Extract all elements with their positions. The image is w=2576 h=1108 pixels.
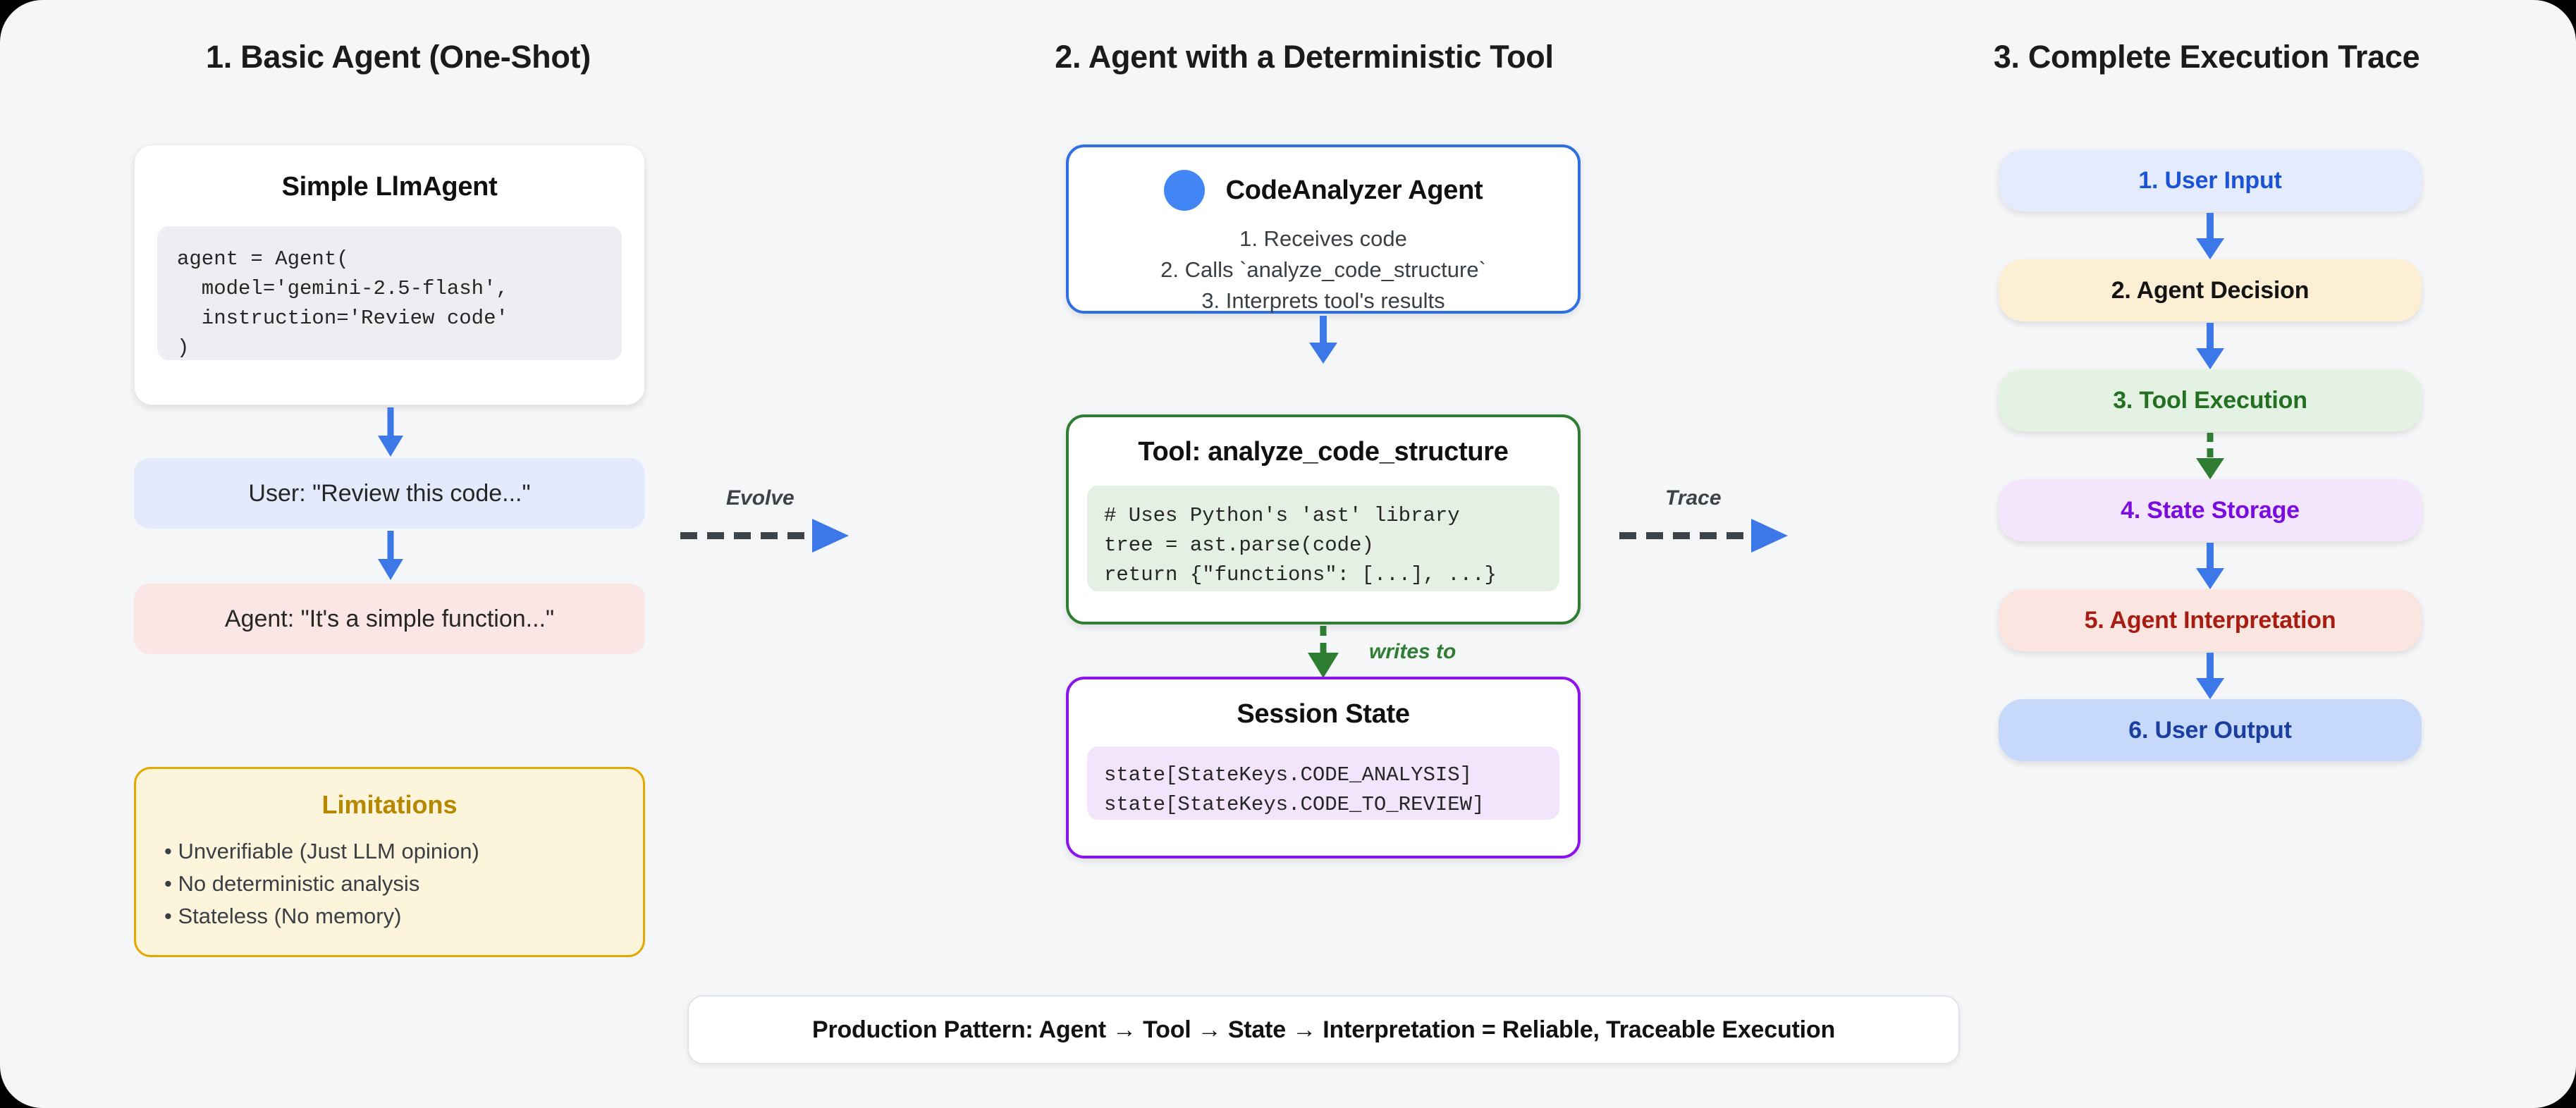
tool-code: # Uses Python's 'ast' library tree = ast… [1087, 486, 1559, 591]
limitations-box: Limitations • Unverifiable (Just LLM opi… [134, 767, 645, 957]
arrow-step1-to-step2 [2189, 213, 2231, 261]
trace-step-2: 2. Agent Decision [1999, 259, 2422, 321]
tool-title: Tool: analyze_code_structure [1069, 437, 1578, 467]
arrow-evolve [677, 515, 874, 557]
session-state-title: Session State [1069, 699, 1578, 730]
trace-step-1: 1. User Input [1999, 149, 2422, 211]
production-pattern-text: Production Pattern: Agent → Tool → State… [812, 1016, 1835, 1044]
trace-step-6: 6. User Output [1999, 699, 2422, 761]
limitations-title: Limitations [136, 790, 643, 820]
agent-reply-box: Agent: "It's a simple function..." [134, 584, 645, 654]
trace-step-label: 5. Agent Interpretation [2085, 607, 2336, 634]
trace-label: Trace [1665, 486, 1722, 510]
column-3-heading: 3. Complete Execution Trace [1925, 39, 2489, 75]
trace-step-3: 3. Tool Execution [1999, 369, 2422, 431]
simple-agent-title: Simple LlmAgent [135, 172, 644, 202]
arrow-step3-to-step4 [2189, 433, 2231, 481]
user-message-box: User: "Review this code..." [134, 458, 645, 529]
trace-step-5: 5. Agent Interpretation [1999, 589, 2422, 651]
user-message-text: User: "Review this code..." [248, 480, 530, 507]
trace-step-4: 4. State Storage [1999, 479, 2422, 541]
column-2-heading: 2. Agent with a Deterministic Tool [973, 39, 1636, 75]
codeanalyzer-agent-card: CodeAnalyzer Agent 1. Receives code 2. C… [1066, 144, 1581, 314]
trace-step-label: 4. State Storage [2121, 497, 2300, 524]
arrow-step5-to-step6 [2189, 653, 2231, 701]
tool-card: Tool: analyze_code_structure # Uses Pyth… [1066, 414, 1581, 624]
arrow-user-to-agent-reply [369, 531, 412, 581]
trace-step-label: 1. User Input [2138, 167, 2281, 195]
production-pattern-banner: Production Pattern: Agent → Tool → State… [687, 995, 1960, 1064]
arrow-tool-to-state [1302, 626, 1344, 681]
column-1-heading: 1. Basic Agent (One-Shot) [85, 39, 712, 75]
limitation-item: • No deterministic analysis [164, 868, 643, 900]
trace-step-label: 6. User Output [2128, 717, 2291, 744]
diagram-canvas: 1. Basic Agent (One-Shot) 2. Agent with … [0, 0, 2576, 1108]
arrow-step4-to-step5 [2189, 543, 2231, 591]
agent-step: 1. Receives code [1069, 223, 1578, 254]
writes-to-label: writes to [1369, 640, 1456, 664]
trace-step-label: 2. Agent Decision [2111, 277, 2310, 304]
arrow-agent-to-tool [1302, 316, 1344, 365]
arrow-step2-to-step3 [2189, 323, 2231, 371]
evolve-label: Evolve [726, 486, 795, 510]
session-state-card: Session State state[StateKeys.CODE_ANALY… [1066, 677, 1581, 858]
codeanalyzer-title: CodeAnalyzer Agent [1226, 176, 1483, 206]
limitation-item: • Unverifiable (Just LLM opinion) [164, 835, 643, 868]
limitation-item: • Stateless (No memory) [164, 900, 643, 932]
agent-step: 3. Interprets tool's results [1069, 285, 1578, 316]
agent-step: 2. Calls `analyze_code_structure` [1069, 254, 1578, 285]
simple-llm-agent-card: Simple LlmAgent agent = Agent( model='ge… [134, 144, 645, 405]
session-state-code: state[StateKeys.CODE_ANALYSIS] state[Sta… [1087, 746, 1559, 820]
trace-step-label: 3. Tool Execution [2113, 387, 2307, 414]
simple-agent-code: agent = Agent( model='gemini-2.5-flash',… [157, 226, 622, 360]
arrow-trace [1616, 515, 1813, 557]
agent-status-dot [1164, 170, 1205, 211]
arrow-agent-to-user [369, 407, 412, 458]
agent-reply-text: Agent: "It's a simple function..." [225, 605, 554, 633]
